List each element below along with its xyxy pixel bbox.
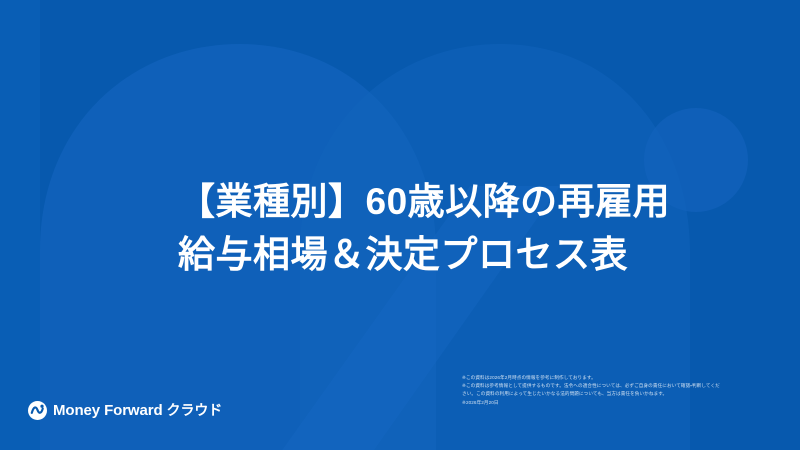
disclaimer-line-4: ※2026年2月20日 <box>462 399 752 407</box>
page-title: 【業種別】60歳以降の再雇用 給与相場＆決定プロセス表 <box>178 176 738 281</box>
logo-product: クラウド <box>167 402 223 418</box>
logo-wordmark: Money Forwardクラウド <box>53 400 222 420</box>
title-line-2: 給与相場＆決定プロセス表 <box>178 229 738 282</box>
disclaimer-text: ※この資料は2026年2月時点の情報を参考に制作しております。 ※この資料は参考… <box>462 374 752 407</box>
disclaimer-line-3: さい。この資料の利用によって生じたいかなる法的問題についても、当方は責任を負いか… <box>462 390 752 398</box>
money-forward-cloud-logo: Money Forwardクラウド <box>28 400 222 420</box>
disclaimer-line-1: ※この資料は2026年2月時点の情報を参考に制作しております。 <box>462 374 752 382</box>
money-forward-mark-icon <box>28 401 47 420</box>
left-edge-band <box>0 0 40 450</box>
title-slide: 【業種別】60歳以降の再雇用 給与相場＆決定プロセス表 ※この資料は2026年2… <box>0 0 800 450</box>
logo-brand: Money Forward <box>53 402 163 419</box>
title-line-1: 【業種別】60歳以降の再雇用 <box>178 176 738 229</box>
disclaimer-line-2: ※この資料は参考情報として提供するものです。法令への適合性については、必ずご自身… <box>462 382 752 390</box>
